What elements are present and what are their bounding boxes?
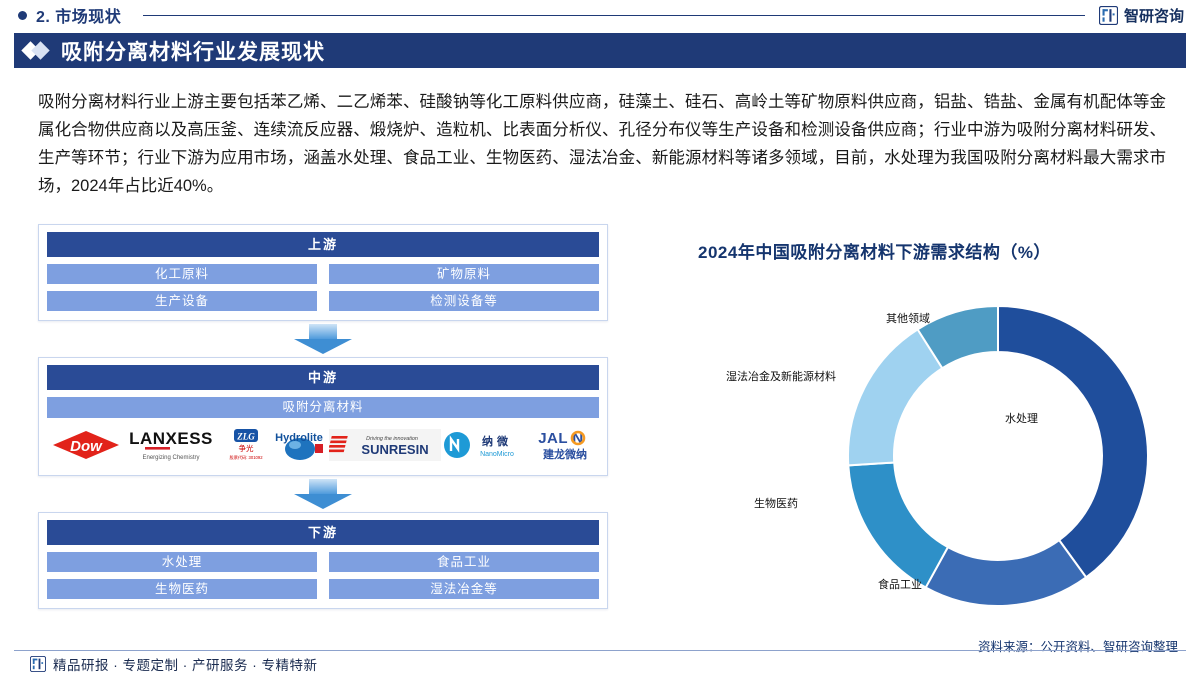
footer-divider	[14, 650, 1186, 651]
stage-row: 水处理 食品工业	[47, 552, 599, 572]
donut-slice	[848, 463, 948, 588]
donut-slice	[998, 306, 1148, 577]
chain-stage-midstream: 中游 吸附分离材料 Dow LANXESS Energizing Chemist…	[38, 357, 608, 476]
footer-text: 精品研报 · 专题定制 · 产研服务 · 专精特新	[53, 654, 318, 674]
svg-text:Energizing Chemistry: Energizing Chemistry	[142, 455, 199, 461]
topbar: 2. 市场现状 智研咨询	[0, 0, 1200, 30]
zhiyan-logo-icon	[1099, 6, 1118, 25]
page-title: 吸附分离材料行业发展现状	[61, 36, 325, 66]
section-label: 2. 市场现状	[36, 3, 121, 27]
chain-cell-material: 吸附分离材料	[47, 397, 599, 418]
slice-label-hydrometallurgy: 湿法冶金及新能源材料	[726, 368, 836, 384]
zhengguang-logo-icon: ZLG 争光 股票代码: 301092	[221, 425, 271, 465]
chain-connector	[38, 476, 608, 512]
down-arrow-icon	[294, 479, 352, 509]
svg-text:NanoMicro: NanoMicro	[480, 451, 514, 458]
slice-label-other: 其他领域	[886, 310, 930, 326]
chain-cell: 湿法冶金等	[329, 579, 599, 599]
zhiyan-mark-icon	[30, 656, 46, 672]
svg-text:建龙微纳: 建龙微纳	[543, 447, 587, 461]
horizontal-rule-icon	[143, 15, 1085, 16]
section-heading-band: 吸附分离材料行业发展现状	[14, 33, 1186, 68]
chain-cell: 矿物原料	[329, 264, 599, 284]
dow-logo-icon: Dow	[51, 425, 121, 465]
svg-text:纳微: 纳微	[482, 434, 512, 448]
svg-text:LANXESS: LANXESS	[129, 429, 213, 448]
stage-row: 化工原料 矿物原料	[47, 264, 599, 284]
chain-cell: 水处理	[47, 552, 317, 572]
svg-text:争光: 争光	[239, 443, 254, 453]
chain-connector	[38, 321, 608, 357]
chain-cell: 生产设备	[47, 291, 317, 311]
source-note: 资料来源：公开资料、智研咨询整理	[978, 636, 1178, 655]
body-paragraph: 吸附分离材料行业上游主要包括苯乙烯、二乙烯苯、硅酸钠等化工原料供应商，硅藻土、硅…	[38, 88, 1166, 200]
lanxess-logo-icon: LANXESS Energizing Chemistry	[121, 425, 221, 465]
double-diamond-icon	[24, 44, 47, 57]
slice-label-water: 水处理	[1005, 410, 1038, 426]
stage-title-upstream: 上游	[47, 232, 599, 257]
donut-slice	[848, 329, 942, 465]
donut-slice	[926, 540, 1086, 606]
svg-text:ZLG: ZLG	[236, 432, 255, 442]
svg-text:Dow: Dow	[70, 438, 103, 455]
hydrolite-logo-icon: Hydrolite	[271, 425, 329, 465]
chain-cell: 化工原料	[47, 264, 317, 284]
svg-text:Hydrolite: Hydrolite	[275, 432, 323, 444]
chart-title: 2024年中国吸附分离材料下游需求结构（%）	[698, 238, 1178, 263]
chain-cell: 检测设备等	[329, 291, 599, 311]
industry-chain-diagram: 上游 化工原料 矿物原料 生产设备 检测设备等 中游 吸附分离材料	[38, 224, 608, 628]
stage-row: 生产设备 检测设备等	[47, 291, 599, 311]
chain-cell: 生物医药	[47, 579, 317, 599]
jalon-logo-icon: JAL N 建龙微纳	[521, 425, 607, 465]
donut-chart-svg	[838, 296, 1158, 616]
slice-label-food: 食品工业	[878, 576, 922, 592]
chain-stage-downstream: 下游 水处理 食品工业 生物医药 湿法冶金等	[38, 512, 608, 609]
sunresin-logo-icon: Driving the innovation SUNRESIN	[329, 425, 441, 465]
down-arrow-icon	[294, 324, 352, 354]
stage-title-downstream: 下游	[47, 520, 599, 545]
donut-chart: 其他领域 湿法冶金及新能源材料 生物医药 食品工业 水处理	[690, 288, 1190, 628]
slice-label-biopharma: 生物医药	[754, 495, 798, 511]
svg-text:股票代码: 301092: 股票代码: 301092	[229, 454, 263, 461]
chain-stage-upstream: 上游 化工原料 矿物原料 生产设备 检测设备等	[38, 224, 608, 321]
stage-row: 生物医药 湿法冶金等	[47, 579, 599, 599]
stage-title-midstream: 中游	[47, 365, 599, 390]
brand-name: 智研咨询	[1124, 5, 1184, 26]
bullet-dot-icon	[18, 11, 27, 20]
chain-cell: 食品工业	[329, 552, 599, 572]
svg-text:SUNRESIN: SUNRESIN	[361, 442, 428, 457]
company-logo-strip: Dow LANXESS Energizing Chemistry ZLG 争光	[47, 424, 599, 466]
brand: 智研咨询	[1099, 5, 1184, 26]
nanomicro-logo-icon: 纳微 NanoMicro	[441, 425, 521, 465]
footer: 精品研报 · 专题定制 · 产研服务 · 专精特新	[30, 654, 318, 674]
slide-page: 2. 市场现状 智研咨询 吸附分离材料行业发展现状 吸附分离材料行业上游主要包括…	[0, 0, 1200, 676]
